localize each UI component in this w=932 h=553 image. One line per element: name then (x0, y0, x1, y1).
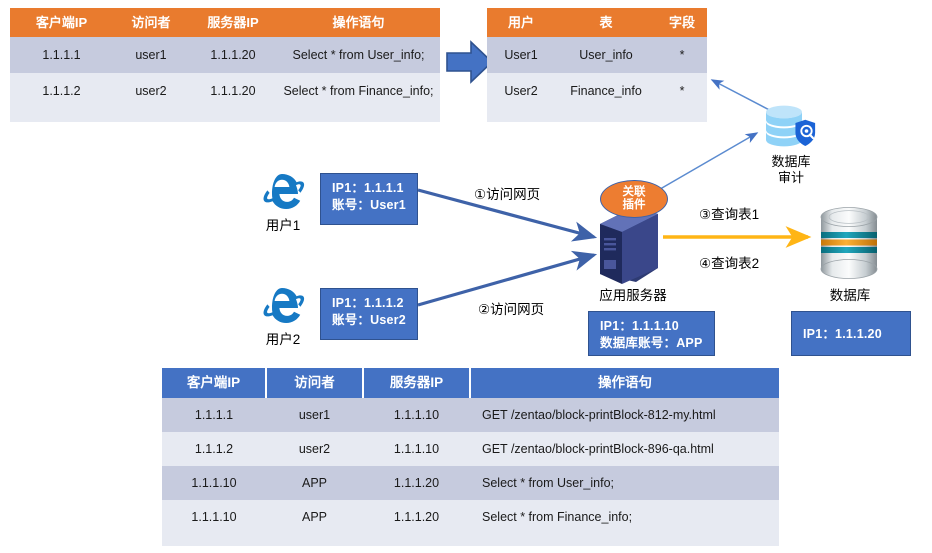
col-statement: 操作语句 (277, 8, 440, 37)
server-vent (604, 248, 616, 250)
cell-visitor: user2 (113, 73, 189, 109)
plugin-line-1: 关联 (623, 186, 646, 199)
user1-ip-line: IP1：1.1.1.1 (332, 180, 408, 197)
filler-cell (470, 534, 779, 546)
cell-field: * (657, 73, 707, 109)
table-row: 1.1.1.10 APP 1.1.1.20 Select * from Fina… (162, 500, 779, 534)
user1-browser-icon (258, 167, 306, 215)
filler-cell (363, 534, 470, 546)
internet-explorer-icon (258, 167, 306, 215)
server-front-face (600, 224, 622, 284)
cell-user: User2 (487, 73, 555, 109)
col-field: 字段 (657, 8, 707, 37)
app-server-info-box: IP1：1.1.1.10 数据库账号：APP (588, 311, 715, 356)
cell-visitor: user2 (266, 432, 363, 466)
cell-visitor: APP (266, 500, 363, 534)
col-server-ip: 服务器IP (189, 8, 277, 37)
cell-client-ip: 1.1.1.2 (162, 432, 266, 466)
cell-server-ip: 1.1.1.20 (363, 466, 470, 500)
user2-browser-icon (258, 281, 306, 329)
step-2-label: ②访问网页 (478, 298, 544, 318)
table-filler-row (487, 109, 707, 122)
filler-cell (10, 109, 113, 122)
cell-user: User1 (487, 37, 555, 73)
cell-client-ip: 1.1.1.10 (162, 466, 266, 500)
filler-cell (277, 109, 440, 122)
col-server-ip: 服务器IP (363, 368, 470, 398)
table-row: 1.1.1.10 APP 1.1.1.20 Select * from User… (162, 466, 779, 500)
col-visitor: 访问者 (113, 8, 189, 37)
user-table-field-table: 用户 表 字段 User1 User_info * User2 Finance_… (487, 8, 707, 122)
cell-table: Finance_info (555, 73, 657, 109)
block-arrow-shape (447, 42, 492, 82)
app-server-caption: 应用服务器 (578, 284, 688, 304)
user1-account-line: 账号：User1 (332, 197, 408, 214)
cell-server-ip: 1.1.1.10 (363, 398, 470, 432)
cell-server-ip: 1.1.1.20 (189, 73, 277, 109)
cell-statement: GET /zentao/block-printBlock-812-my.html (470, 398, 779, 432)
filler-cell (189, 109, 277, 122)
user1-caption: 用户1 (255, 214, 311, 234)
server-drive-bay (604, 260, 616, 269)
cell-visitor: APP (266, 466, 363, 500)
database-info-box: IP1：1.1.1.20 (791, 311, 911, 356)
app-server-account-line: 数据库账号：APP (600, 335, 705, 352)
step-3-label: ③查询表1 (699, 203, 759, 223)
user1-info-box: IP1：1.1.1.1 账号：User1 (320, 173, 418, 225)
bottom-table-wrapper: 客户端IP 访问者 服务器IP 操作语句 1.1.1.1 user1 1.1.1… (162, 368, 779, 546)
internet-explorer-icon (258, 281, 306, 329)
step-4-label: ④查询表2 (699, 252, 759, 272)
cell-client-ip: 1.1.1.2 (10, 73, 113, 109)
ie-glyph-outer (264, 174, 305, 209)
col-statement: 操作语句 (470, 368, 779, 398)
db-audit-icon (762, 104, 820, 154)
user2-account-line: 账号：User2 (332, 312, 408, 329)
top-right-table-wrapper: 用户 表 字段 User1 User_info * User2 Finance_… (487, 8, 707, 122)
table-header-row: 用户 表 字段 (487, 8, 707, 37)
cell-client-ip: 1.1.1.1 (162, 398, 266, 432)
user2-ip-line: IP1：1.1.1.2 (332, 295, 408, 312)
filler-cell (266, 534, 363, 546)
user2-caption: 用户2 (255, 328, 311, 348)
table-row: 1.1.1.2 user2 1.1.1.20 Select * from Fin… (10, 73, 440, 109)
database-cylinder-icon (818, 205, 880, 281)
cell-visitor: user1 (113, 37, 189, 73)
cell-client-ip: 1.1.1.10 (162, 500, 266, 534)
top-left-table-wrapper: 客户端IP 访问者 服务器IP 操作语句 1.1.1.1 user1 1.1.1… (10, 8, 440, 122)
database-ip-line: IP1：1.1.1.20 (803, 326, 882, 343)
col-client-ip: 客户端IP (10, 8, 113, 37)
cell-statement: Select * from User_info; (470, 466, 779, 500)
db-band-teal-2 (821, 247, 877, 253)
correlation-plugin-badge: 关联 插件 (600, 180, 668, 218)
table-row: User1 User_info * (487, 37, 707, 73)
filler-cell (657, 109, 707, 122)
cell-server-ip: 1.1.1.20 (363, 500, 470, 534)
step-1-label: ①访问网页 (474, 183, 540, 203)
table-row: 1.1.1.1 user1 1.1.1.20 Select * from Use… (10, 37, 440, 73)
col-user: 用户 (487, 8, 555, 37)
table-row: 1.1.1.2 user2 1.1.1.10 GET /zentao/block… (162, 432, 779, 466)
cell-visitor: user1 (266, 398, 363, 432)
cell-statement: Select * from Finance_info; (277, 73, 440, 109)
col-table: 表 (555, 8, 657, 37)
table-header-row: 客户端IP 访问者 服务器IP 操作语句 (162, 368, 779, 398)
table-filler-row (162, 534, 779, 546)
audit-magnifier-dot (805, 129, 809, 133)
filler-cell (487, 109, 555, 122)
cell-statement: Select * from User_info; (277, 37, 440, 73)
ie-glyph-outer (264, 288, 305, 323)
correlated-audit-log-table: 客户端IP 访问者 服务器IP 操作语句 1.1.1.1 user1 1.1.1… (162, 368, 779, 546)
cell-statement: GET /zentao/block-printBlock-896-qa.html (470, 432, 779, 466)
cell-table: User_info (555, 37, 657, 73)
cell-field: * (657, 37, 707, 73)
app-server-ip-line: IP1：1.1.1.10 (600, 318, 705, 335)
database-caption: 数据库 (804, 284, 896, 304)
cell-server-ip: 1.1.1.10 (363, 432, 470, 466)
table-header-row: 客户端IP 访问者 服务器IP 操作语句 (10, 8, 440, 37)
table-row: 1.1.1.1 user1 1.1.1.10 GET /zentao/block… (162, 398, 779, 432)
db-bottom-disc (821, 260, 877, 279)
db-audit-caption-line2: 审计 (740, 170, 842, 186)
user2-info-box: IP1：1.1.1.2 账号：User2 (320, 288, 418, 340)
cell-server-ip: 1.1.1.20 (189, 37, 277, 73)
access-log-before-table: 客户端IP 访问者 服务器IP 操作语句 1.1.1.1 user1 1.1.1… (10, 8, 440, 122)
cell-statement: Select * from Finance_info; (470, 500, 779, 534)
table-filler-row (10, 109, 440, 122)
plugin-line-2: 插件 (623, 199, 646, 212)
audit-db-top (766, 106, 802, 119)
db-audit-caption: 数据库 审计 (740, 154, 842, 186)
db-band-teal-1 (821, 232, 877, 238)
col-client-ip: 客户端IP (162, 368, 266, 398)
server-vent (604, 243, 616, 245)
col-visitor: 访问者 (266, 368, 363, 398)
database-icon (818, 205, 880, 281)
filler-cell (162, 534, 266, 546)
table-row: User2 Finance_info * (487, 73, 707, 109)
server-vent (604, 238, 616, 240)
db-band-amber (821, 240, 877, 246)
filler-cell (555, 109, 657, 122)
cell-client-ip: 1.1.1.1 (10, 37, 113, 73)
db-audit-caption-line1: 数据库 (740, 154, 842, 170)
database-audit-icon (762, 104, 820, 154)
filler-cell (113, 109, 189, 122)
